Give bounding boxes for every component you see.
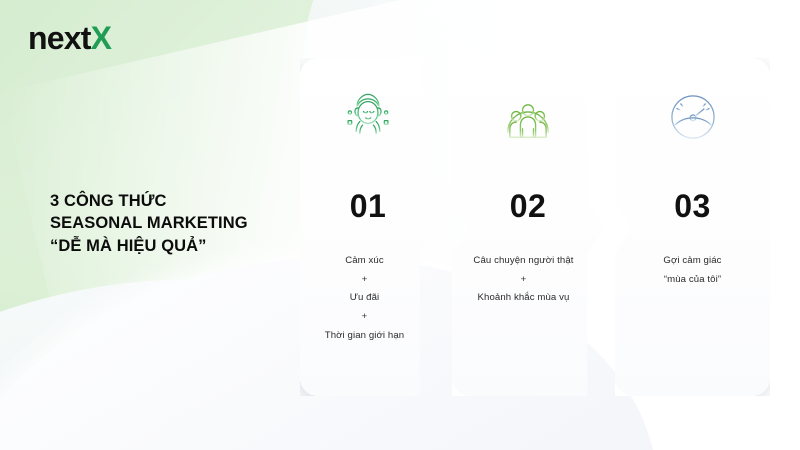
card-content: 02 Câu chuyện người thật + Khoảnh khắc m… — [452, 58, 604, 396]
page-title-line-2: SEASONAL MARKETING — [50, 212, 248, 234]
page-title-line-3: “DỄ MÀ HIỆU QUẢ” — [50, 235, 248, 257]
formula-card[interactable]: 01 Cảm xúc + Ưu đãi + Thời gian giới hạn — [300, 58, 436, 396]
card-text-line: Gợi cảm giác — [624, 252, 762, 271]
brand-logo-text: next — [28, 20, 91, 56]
gauge-speedometer-icon — [662, 86, 724, 148]
brand-logo-accent-letter: X — [91, 20, 112, 56]
card-text-line: Khoảnh khắc mùa vụ — [446, 289, 602, 308]
formula-card[interactable]: 02 Câu chuyện người thật + Khoảnh khắc m… — [452, 58, 604, 396]
card-text-line: Ưu đãi — [296, 289, 434, 308]
card-text-block: Cảm xúc + Ưu đãi + Thời gian giới hạn — [290, 252, 440, 346]
card-text-line: Thời gian giới hạn — [296, 327, 434, 346]
card-text-block: Câu chuyện người thật + Khoảnh khắc mùa … — [440, 252, 608, 308]
emotion-face-icon — [337, 86, 399, 148]
page-title-line-1: 3 CÔNG THỨC — [50, 190, 248, 212]
card-number: 02 — [510, 190, 547, 222]
brand-logo[interactable]: nextX — [28, 22, 111, 54]
card-text-block: Gợi cảm giác “mùa của tôi” — [618, 252, 768, 289]
card-number: 01 — [350, 190, 387, 222]
card-text-line: Cảm xúc — [296, 252, 434, 271]
slide-canvas: nextX 3 CÔNG THỨC SEASONAL MARKETING “DỄ… — [0, 0, 800, 450]
card-content: 01 Cảm xúc + Ưu đãi + Thời gian giới hạn — [300, 58, 436, 396]
formula-card[interactable]: 03 Gợi cảm giác “mùa của tôi” — [615, 58, 770, 396]
card-text-line: Câu chuyện người thật — [446, 252, 602, 271]
card-text-line: + — [296, 308, 434, 327]
card-text-line: + — [296, 271, 434, 290]
card-number: 03 — [674, 190, 711, 222]
people-group-icon — [497, 86, 559, 148]
card-text-line: “mùa của tôi” — [624, 271, 762, 290]
card-content: 03 Gợi cảm giác “mùa của tôi” — [615, 58, 770, 396]
card-text-line: + — [446, 271, 602, 290]
page-title: 3 CÔNG THỨC SEASONAL MARKETING “DỄ MÀ HI… — [50, 190, 248, 257]
